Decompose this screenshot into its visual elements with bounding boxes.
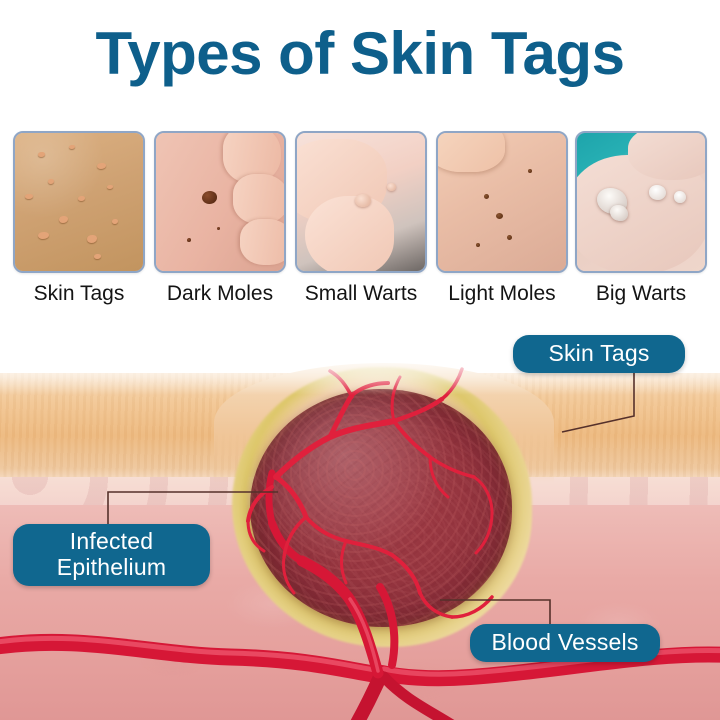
thumbnail-frame [295,131,427,273]
thumbnail-frame [436,131,568,273]
thumbnail-item-dark-moles[interactable]: Dark Moles [154,131,286,306]
leader-line-skin-tags [560,364,650,434]
thumbnail-item-light-moles[interactable]: Light Moles [436,131,568,306]
callout-skin-tags[interactable]: Skin Tags [513,335,685,373]
thumbnail-label: Small Warts [295,282,427,306]
light-moles-photo [438,133,566,271]
callout-blood-vessels[interactable]: Blood Vessels [470,624,660,662]
thumbnail-item-big-warts[interactable]: Big Warts [575,131,707,306]
lesion-inner-glow [250,389,512,627]
callout-infected-epithelium[interactable]: Infected Epithelium [13,524,210,586]
skin-tags-photo [15,133,143,271]
thumbnail-label: Skin Tags [13,282,145,306]
lesion-core [250,389,512,627]
thumbnail-strip: Skin Tags Dark Moles [0,131,720,311]
callout-label-line-2: Epithelium [57,555,166,581]
poster-root: Types of Skin Tags [0,0,720,720]
big-warts-photo [577,133,705,271]
thumbnail-label: Dark Moles [154,282,286,306]
thumbnail-item-skin-tags[interactable]: Skin Tags [13,131,145,306]
callout-label: Blood Vessels [491,630,638,656]
callout-label-line-1: Infected [70,529,153,555]
page-title: Types of Skin Tags [0,22,720,85]
callout-label: Skin Tags [548,341,649,367]
thumbnail-item-small-warts[interactable]: Small Warts [295,131,427,306]
dark-moles-photo [156,133,284,271]
thumbnail-label: Light Moles [436,282,568,306]
thumbnail-frame [13,131,145,273]
small-warts-photo [297,133,425,271]
thumbnail-frame [154,131,286,273]
thumbnail-frame [575,131,707,273]
thumbnail-label: Big Warts [575,282,707,306]
